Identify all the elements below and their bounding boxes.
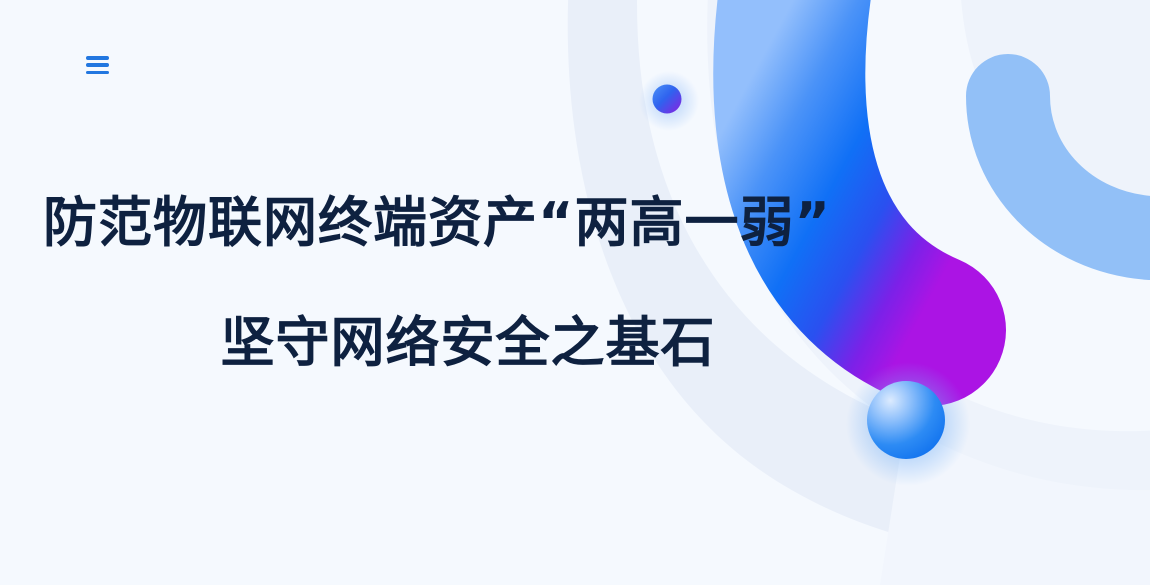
pale-halo-top-right [960,0,1150,216]
hamburger-bar-middle [86,63,109,67]
slide-title-line-2: 坚守网络安全之基石 [43,306,893,380]
hamburger-bar-bottom [86,71,109,75]
large-blue-sphere [867,381,945,459]
slide-title-block: 防范物联网终端资产“两高一弱” 坚守网络安全之基石 [0,186,880,380]
large-sphere-glow [846,362,970,486]
slide-title-line-1: 防范物联网终端资产“两高一弱” [43,186,880,260]
slide-canvas: 防范物联网终端资产“两高一弱” 坚守网络安全之基石 [0,0,1150,585]
small-gradient-sphere [653,85,682,114]
hamburger-bar-top [86,56,109,60]
light-blue-arc [1008,96,1150,238]
small-sphere-glow [639,71,699,131]
pale-sweep-bottom-right [880,425,1150,585]
hamburger-menu-icon[interactable] [84,52,114,78]
